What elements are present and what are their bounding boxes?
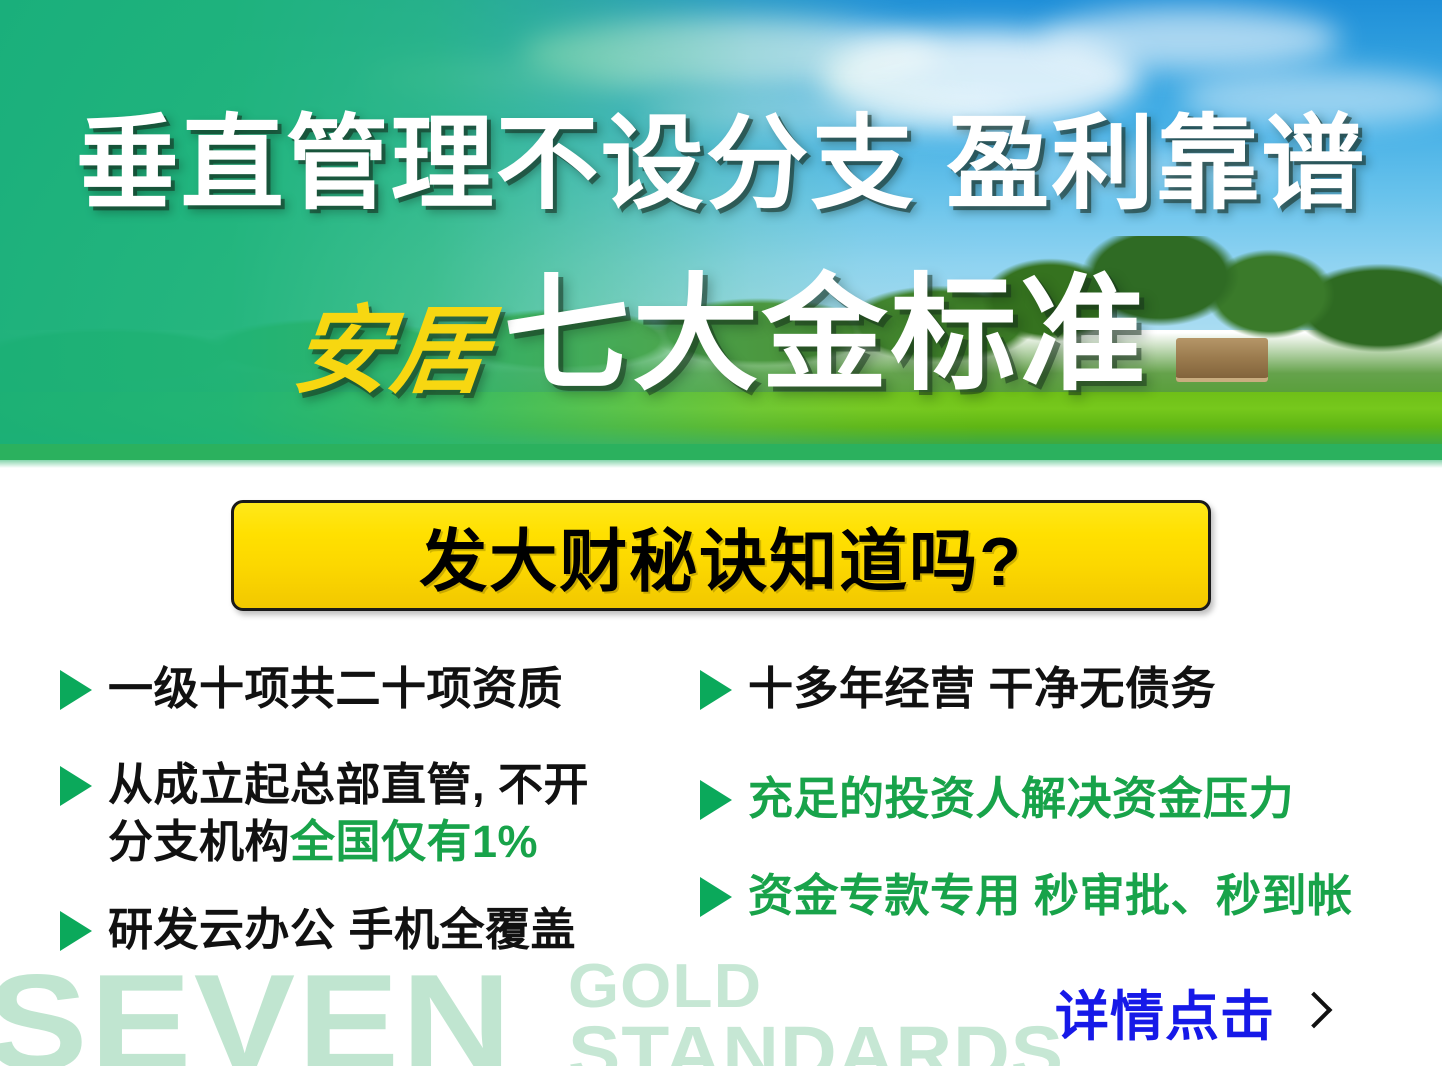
chevron-right-icon <box>1299 991 1321 1033</box>
feature-text: 十多年经营 干净无债务 <box>748 660 1216 718</box>
triangle-bullet-icon <box>700 877 732 917</box>
hero-headline: 垂直管理不设分支 盈利靠谱 <box>0 110 1442 218</box>
triangle-bullet-icon <box>60 766 92 806</box>
feature-item: 资金专款专用 秒审批、秒到帐 <box>700 867 1420 925</box>
feature-item: 从成立起总部直管, 不开分支机构全国仅有1% <box>60 756 700 871</box>
features-column-left: 一级十项共二十项资质 从成立起总部直管, 不开分支机构全国仅有1% 研发云办公 … <box>60 660 700 988</box>
feature-text: 一级十项共二十项资质 <box>108 660 563 718</box>
question-banner[interactable]: 发大财秘诀知道吗? <box>231 500 1211 611</box>
advertisement-banner: 垂直管理不设分支 盈利靠谱 安居七大金标准 发大财秘诀知道吗? 一级十项共二十项… <box>0 0 1442 1066</box>
triangle-bullet-icon <box>700 670 732 710</box>
hero-subheadline: 安居七大金标准 <box>0 272 1442 400</box>
features-section: 一级十项共二十项资质 从成立起总部直管, 不开分支机构全国仅有1% 研发云办公 … <box>0 660 1442 1000</box>
triangle-bullet-icon <box>60 911 92 951</box>
question-text: 发大财秘诀知道吗? <box>419 506 1023 605</box>
feature-text: 研发云办公 手机全覆盖 <box>108 901 576 959</box>
feature-line-2-prefix: 分支机构 <box>108 816 290 867</box>
hero-subtitle: 七大金标准 <box>504 272 1149 398</box>
feature-item: 充足的投资人解决资金压力 <box>700 770 1420 828</box>
detail-link-label: 详情点击 <box>1055 972 1275 1051</box>
features-column-right: 十多年经营 干净无债务 充足的投资人解决资金压力 资金专款专用 秒审批、秒到帐 <box>700 660 1420 955</box>
hero-bottom-fade <box>0 460 1442 468</box>
feature-text: 从成立起总部直管, 不开分支机构全国仅有1% <box>108 756 589 871</box>
triangle-bullet-icon <box>700 780 732 820</box>
triangle-bullet-icon <box>60 670 92 710</box>
brand-name: 安居 <box>288 304 494 400</box>
feature-text: 资金专款专用 秒审批、秒到帐 <box>748 867 1353 925</box>
feature-item: 十多年经营 干净无债务 <box>700 660 1420 718</box>
watermark-standards: STANDARDS <box>568 1017 1064 1066</box>
detail-link[interactable]: 详情点击 <box>1055 972 1321 1051</box>
feature-line-1: 从成立起总部直管, 不开 <box>108 759 589 810</box>
hero-bottom-strip <box>0 444 1442 460</box>
feature-item: 研发云办公 手机全覆盖 <box>60 901 700 959</box>
feature-text: 充足的投资人解决资金压力 <box>748 770 1294 828</box>
hero-section: 垂直管理不设分支 盈利靠谱 安居七大金标准 <box>0 0 1442 468</box>
feature-highlight: 全国仅有1% <box>290 816 538 867</box>
feature-item: 一级十项共二十项资质 <box>60 660 700 718</box>
